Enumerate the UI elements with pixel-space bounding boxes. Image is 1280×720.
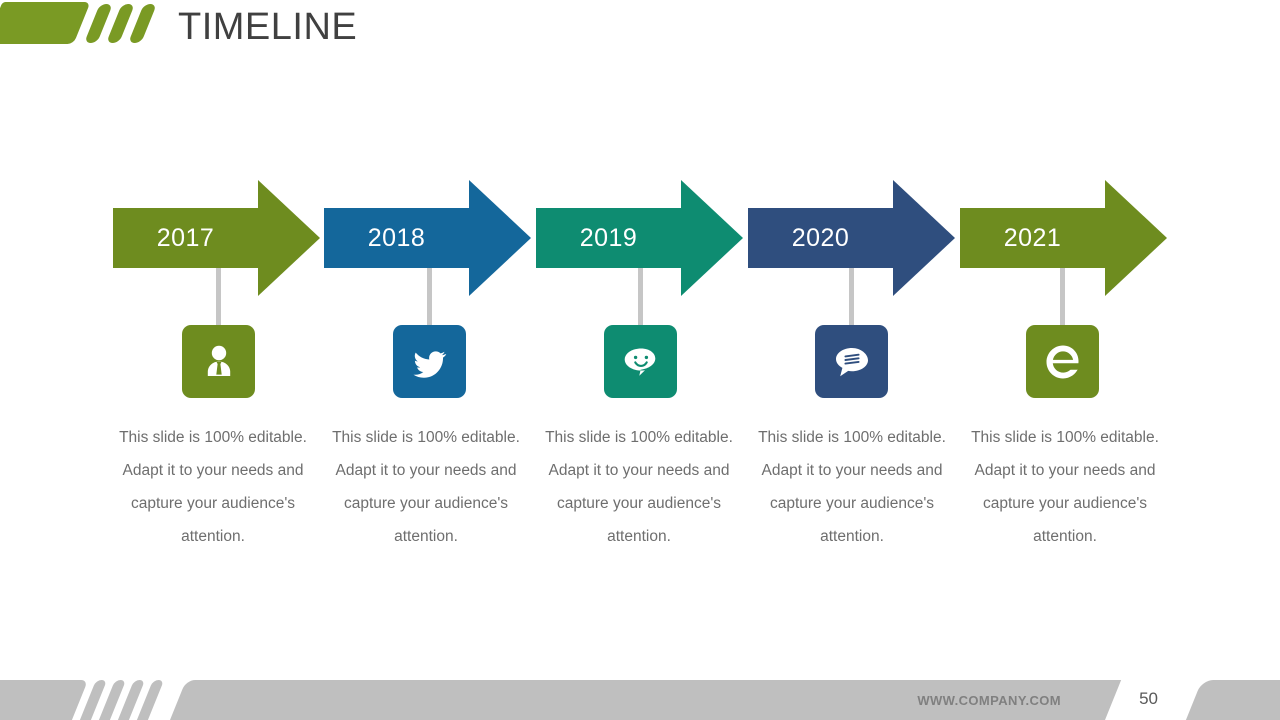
timeline-arrow[interactable] xyxy=(324,208,469,268)
timeline-connector-line xyxy=(1060,268,1065,327)
timeline-step-description: This slide is 100% editable. Adapt it to… xyxy=(533,421,745,553)
timeline-step-description: This slide is 100% editable. Adapt it to… xyxy=(107,421,319,553)
timeline-connector-line xyxy=(638,268,643,327)
timeline-arrow-head xyxy=(893,180,955,296)
timeline-arrow[interactable] xyxy=(113,208,258,268)
footer-decor-slab-left xyxy=(0,680,88,720)
timeline-step-description: This slide is 100% editable. Adapt it to… xyxy=(320,421,532,553)
timeline-step-description: This slide is 100% editable. Adapt it to… xyxy=(746,421,958,553)
timeline-group: 2017 This slide is 100% editable. Adapt … xyxy=(0,0,1280,720)
timeline-arrow-head xyxy=(469,180,531,296)
timeline-connector-line xyxy=(849,268,854,327)
timeline-icon-tile[interactable] xyxy=(604,325,677,398)
timeline-arrow-body xyxy=(113,208,258,268)
timeline-arrow-head xyxy=(258,180,320,296)
timeline-connector-line xyxy=(216,268,221,327)
smiley-speech-bubble-icon xyxy=(620,343,662,381)
businessman-icon xyxy=(199,342,239,382)
twitter-bird-icon xyxy=(409,342,451,382)
timeline-arrow[interactable] xyxy=(536,208,681,268)
footer-website-url: WWW.COMPANY.COM xyxy=(917,693,1061,708)
timeline-arrow[interactable] xyxy=(960,208,1105,268)
internet-explorer-e-icon xyxy=(1042,341,1084,383)
timeline-arrow-body xyxy=(536,208,681,268)
timeline-step-description: This slide is 100% editable. Adapt it to… xyxy=(959,421,1171,553)
slide-footer: WWW.COMPANY.COM 50 xyxy=(0,662,1280,720)
timeline-arrow-head xyxy=(1105,180,1167,296)
slide-canvas: TIMELINE 2017 This slide is 100% editabl… xyxy=(0,0,1280,720)
timeline-arrow-body xyxy=(748,208,893,268)
timeline-arrow-body xyxy=(324,208,469,268)
footer-decor-slab-right xyxy=(1186,680,1280,720)
timeline-arrow-head xyxy=(681,180,743,296)
timeline-icon-tile[interactable] xyxy=(393,325,466,398)
timeline-connector-line xyxy=(427,268,432,327)
timeline-icon-tile[interactable] xyxy=(182,325,255,398)
footer-page-number: 50 xyxy=(1139,689,1158,709)
timeline-arrow[interactable] xyxy=(748,208,893,268)
timeline-icon-tile[interactable] xyxy=(1026,325,1099,398)
timeline-icon-tile[interactable] xyxy=(815,325,888,398)
timeline-arrow-body xyxy=(960,208,1105,268)
chat-lines-bubble-icon xyxy=(831,343,873,381)
